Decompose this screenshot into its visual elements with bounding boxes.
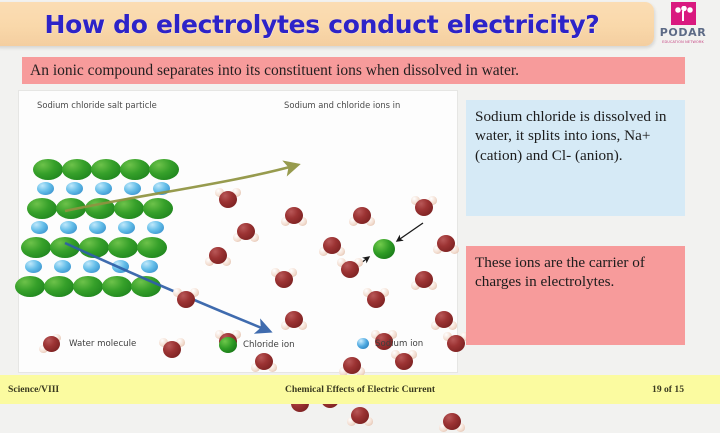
lattice-sodium-ion: [147, 221, 164, 234]
lattice-sodium-ion: [95, 182, 112, 195]
legend-item-sodium: Sodium ion: [357, 338, 423, 349]
legend-label-water: Water molecule: [69, 339, 136, 349]
footer-page-number: 19 of 15: [652, 384, 684, 395]
water-molecule: [411, 267, 437, 291]
lattice-chloride-ion: [114, 198, 144, 219]
water-molecule: [337, 257, 363, 281]
logo-wordmark: PODAR: [660, 26, 707, 39]
water-molecule: [349, 203, 375, 227]
slide-footer: Science/VIII Chemical Effects of Electri…: [0, 375, 720, 404]
diagram-legend: Water molecule Chloride ion Sodium ion: [39, 334, 449, 360]
lattice-sodium-ion: [54, 260, 71, 273]
legend-item-water: Water molecule: [39, 334, 136, 354]
water-molecule: [281, 203, 307, 227]
dissolution-diagram: Sodium chloride salt particle Sodium and…: [18, 90, 458, 373]
lattice-sodium-ion: [153, 182, 170, 195]
lattice-chloride-ion: [21, 237, 51, 258]
lattice-chloride-ion: [33, 159, 63, 180]
lattice-chloride-ion: [73, 276, 103, 297]
footer-chapter: Chemical Effects of Electric Current: [285, 384, 435, 395]
legend-label-chloride: Chloride ion: [243, 340, 295, 350]
subtitle-banner: An ionic compound separates into its con…: [22, 57, 685, 84]
lattice-chloride-ion: [149, 159, 179, 180]
lattice-chloride-ion: [143, 198, 173, 219]
water-molecule: [431, 307, 457, 331]
podar-emblem-icon: [671, 2, 696, 25]
water-molecule-icon: [39, 334, 63, 354]
lattice-chloride-ion: [131, 276, 161, 297]
lattice-chloride-ion: [50, 237, 80, 258]
chloride-ion-icon: [219, 337, 237, 353]
lattice-chloride-ion: [137, 237, 167, 258]
lattice-chloride-ion: [120, 159, 150, 180]
water-molecule: [215, 187, 241, 211]
slide-title-band: How do electrolytes conduct electricity?: [0, 2, 654, 46]
water-molecule: [205, 243, 231, 267]
lattice-chloride-ion: [62, 159, 92, 180]
water-molecule: [233, 219, 259, 243]
water-molecule: [319, 233, 345, 257]
water-molecule: [281, 307, 307, 331]
sodium-ion-icon: [357, 338, 369, 349]
lattice-sodium-ion: [66, 182, 83, 195]
lattice-chloride-ion: [102, 276, 132, 297]
logo-tagline: EDUCATION NETWORK: [662, 40, 704, 44]
lattice-sodium-ion: [118, 221, 135, 234]
diagram-caption-right: Sodium and chloride ions in: [284, 100, 400, 110]
salt-crystal-lattice: [33, 159, 203, 299]
lattice-sodium-ion: [141, 260, 158, 273]
lattice-chloride-ion: [15, 276, 45, 297]
lattice-sodium-ion: [25, 260, 42, 273]
callout-charge-carriers: These ions are the carrier of charges in…: [466, 246, 685, 345]
lattice-sodium-ion: [83, 260, 100, 273]
water-molecule: [439, 409, 465, 433]
subtitle-text: An ionic compound separates into its con…: [30, 62, 519, 80]
water-molecule: [271, 267, 297, 291]
water-molecule: [433, 231, 459, 255]
water-molecule: [173, 287, 199, 311]
water-molecule: [411, 195, 437, 219]
chloride-ion: [373, 239, 395, 259]
lattice-chloride-ion: [27, 198, 57, 219]
legend-item-chloride: Chloride ion: [219, 337, 295, 353]
page-title: How do electrolytes conduct electricity?: [44, 10, 599, 39]
footer-subject: Science/VIII: [8, 384, 59, 395]
lattice-chloride-ion: [79, 237, 109, 258]
lattice-chloride-ion: [85, 198, 115, 219]
water-molecule: [363, 287, 389, 311]
podar-logo: PODAR EDUCATION NETWORK: [654, 2, 712, 52]
lattice-sodium-ion: [124, 182, 141, 195]
lattice-sodium-ion: [37, 182, 54, 195]
diagram-caption-left: Sodium chloride salt particle: [37, 100, 157, 110]
lattice-chloride-ion: [56, 198, 86, 219]
lattice-sodium-ion: [89, 221, 106, 234]
legend-label-sodium: Sodium ion: [375, 339, 423, 349]
callout-sodium-chloride: Sodium chloride is dissolved in water, i…: [466, 100, 685, 216]
lattice-chloride-ion: [108, 237, 138, 258]
lattice-chloride-ion: [44, 276, 74, 297]
lattice-sodium-ion: [31, 221, 48, 234]
lattice-sodium-ion: [60, 221, 77, 234]
water-molecule: [347, 403, 373, 427]
lattice-chloride-ion: [91, 159, 121, 180]
lattice-sodium-ion: [112, 260, 129, 273]
